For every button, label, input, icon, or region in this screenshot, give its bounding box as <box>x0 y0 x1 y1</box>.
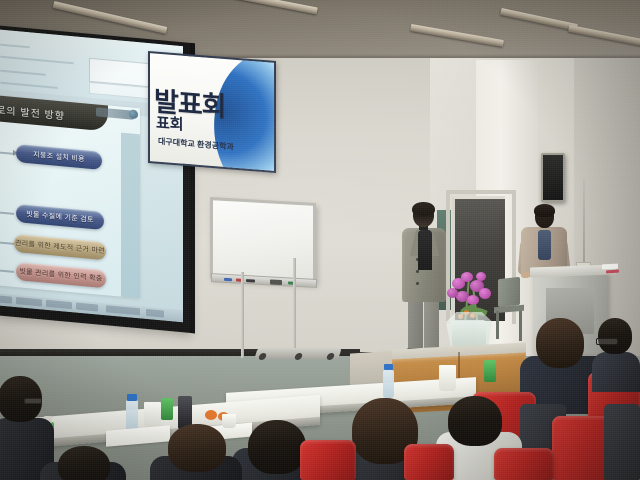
auditorium-seat <box>494 448 554 480</box>
caster-wheel-icon <box>294 353 303 360</box>
connector-line <box>0 241 14 245</box>
slide-pill: 빗물 수질에 기준 검토 <box>16 204 104 230</box>
audience-head <box>168 424 226 472</box>
whiteboard-stand-post <box>293 258 296 358</box>
paper-cup <box>144 402 161 428</box>
slide-pill: 관리를 위한 제도적 근거 마련 <box>14 234 106 260</box>
orchid-bloom <box>447 288 458 298</box>
chair-leg <box>519 311 522 341</box>
connector-line <box>0 269 14 273</box>
wall-cable <box>583 178 585 264</box>
person-hair <box>412 202 435 216</box>
auditorium-seat <box>300 440 356 480</box>
ceiling-light <box>53 1 168 34</box>
orange-fruit <box>205 410 217 420</box>
ceiling-light <box>410 24 504 47</box>
orchid-bloom <box>479 288 491 299</box>
event-banner: 발표회 표회 대구대학교 환경공학과 <box>148 51 276 173</box>
slide-title: 으로의 발전 방향 <box>0 99 65 122</box>
connector-line <box>0 211 14 215</box>
audience-head <box>598 318 632 354</box>
podium-papers <box>602 264 618 270</box>
orchid-bloom <box>476 272 486 281</box>
person-leg <box>424 298 439 352</box>
presenter-hair <box>534 204 555 217</box>
coat-button <box>416 282 419 285</box>
chair-leg <box>496 311 499 339</box>
ceiling-light <box>218 0 317 14</box>
eyeglasses-icon <box>596 338 618 345</box>
caster-wheel-icon <box>258 353 267 360</box>
whiteboard-base <box>254 348 342 359</box>
flower-pot <box>452 320 486 348</box>
bottle-cap <box>384 364 393 370</box>
connector-line <box>0 151 14 155</box>
bottle-cap <box>127 394 137 401</box>
auditorium-seat-back <box>604 404 640 480</box>
paper-cup <box>439 365 456 391</box>
eyeglasses-icon <box>24 398 42 404</box>
presentation-slide: 으로의 발전 방향 지붕조 설치 비용 빗물 수질에 기준 검토 관리를 위한 … <box>0 94 140 299</box>
marker-icon <box>246 279 255 283</box>
audience-head <box>536 318 584 368</box>
paper-cup <box>222 414 236 428</box>
photograph-scene: 으로의 발전 방향 지붕조 설치 비용 빗물 수질에 기준 검토 관리를 위한 … <box>0 0 640 480</box>
audience-head <box>58 446 110 480</box>
whiteboard <box>210 197 316 284</box>
person-leg <box>408 298 423 352</box>
auditorium-seat <box>404 444 454 480</box>
slide-pill: 빗물 관리를 위한 인력 확충 <box>16 262 106 288</box>
ceiling-light <box>568 25 640 46</box>
audience-shoulders <box>592 352 640 392</box>
audience-head <box>248 420 306 474</box>
water-bottle <box>383 370 394 398</box>
marker-icon <box>224 278 232 281</box>
slide-sidebar <box>121 133 140 299</box>
whiteboard-stand-post <box>241 272 244 358</box>
presenter-inner-top <box>538 230 551 260</box>
standing-man-inner-top <box>418 230 432 270</box>
caster-wheel-icon <box>326 353 335 360</box>
chair-backrest <box>498 277 520 307</box>
coat-button <box>416 270 419 273</box>
slide-pill: 지붕조 설치 비용 <box>16 144 102 170</box>
audience-head <box>448 396 502 446</box>
orchid-bloom <box>461 272 473 282</box>
eraser-icon <box>270 279 282 285</box>
presenter-hand <box>521 272 530 278</box>
banner-subheadline: 표회 <box>156 112 184 135</box>
wall-speaker-icon <box>541 153 565 202</box>
green-can <box>161 398 173 420</box>
green-can <box>484 360 496 382</box>
ceiling-light <box>500 8 578 31</box>
